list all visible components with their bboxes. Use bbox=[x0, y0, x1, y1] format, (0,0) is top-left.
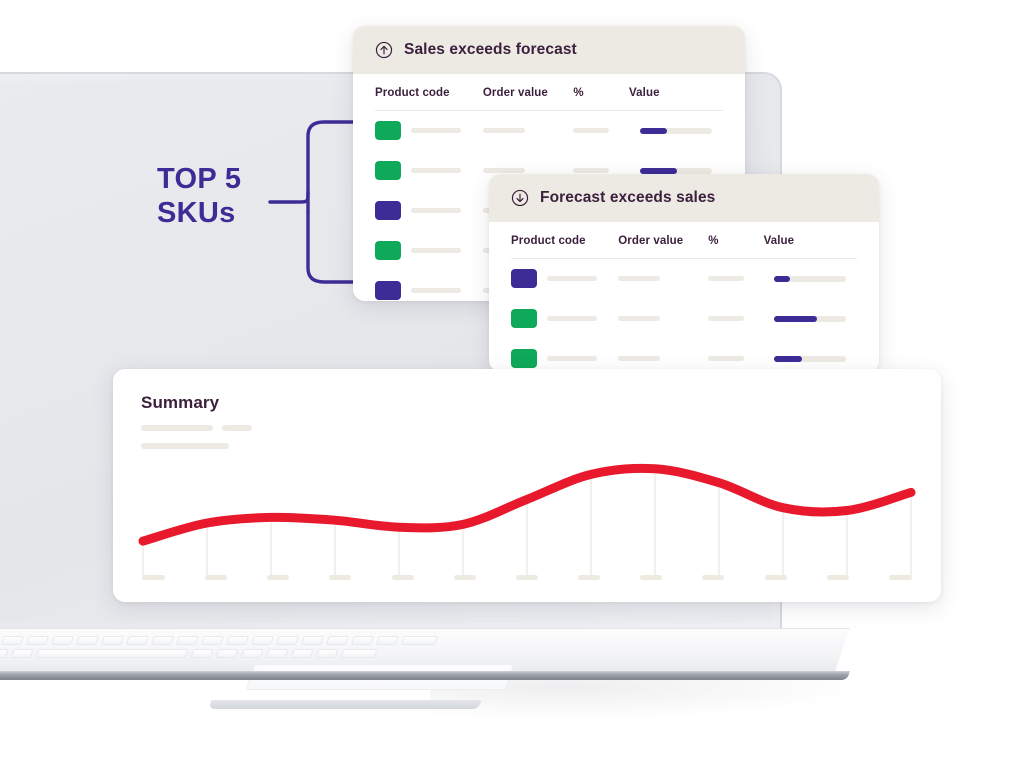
keyboard-key bbox=[151, 636, 174, 645]
percent-placeholder bbox=[573, 128, 609, 133]
product-color-swatch bbox=[511, 349, 537, 368]
x-tick-label-placeholder bbox=[516, 575, 538, 580]
keyboard-key bbox=[26, 636, 49, 645]
product-color-swatch bbox=[375, 161, 401, 180]
cell-value bbox=[764, 299, 857, 339]
keyboard-key bbox=[76, 636, 99, 645]
x-tick-label-placeholder bbox=[765, 575, 787, 580]
x-tick-label-placeholder bbox=[578, 575, 600, 580]
illustration-stage: TOP 5 SKUs Sales exceeds forecast Produc… bbox=[0, 0, 1024, 770]
keyboard-key bbox=[401, 636, 438, 645]
order-value-placeholder bbox=[618, 356, 660, 361]
keyboard-row bbox=[0, 636, 750, 645]
keyboard-key bbox=[290, 649, 313, 658]
keyboard-row bbox=[0, 649, 746, 658]
placeholder-bar bbox=[141, 425, 213, 431]
product-code-placeholder bbox=[411, 128, 461, 133]
x-tick-label-placeholder bbox=[827, 575, 849, 580]
keyboard-key bbox=[190, 649, 213, 658]
table-body bbox=[511, 259, 857, 373]
percent-placeholder bbox=[708, 316, 744, 321]
x-tick-label-placeholder bbox=[640, 575, 662, 580]
order-value-placeholder bbox=[618, 316, 660, 321]
value-bar-track bbox=[774, 356, 846, 362]
cell-product-code bbox=[511, 339, 618, 373]
column-header-percent[interactable]: % bbox=[708, 222, 763, 259]
card-title: Sales exceeds forecast bbox=[404, 41, 577, 59]
cell-value bbox=[764, 259, 857, 299]
table-head: Product code Order value % Value bbox=[375, 74, 723, 111]
cell-percent bbox=[708, 299, 763, 339]
keyboard-key bbox=[265, 649, 288, 658]
table-row[interactable] bbox=[511, 339, 857, 373]
table-header-row: Product code Order value % Value bbox=[511, 222, 857, 259]
value-bar-track bbox=[640, 128, 712, 134]
laptop-front-lip bbox=[208, 700, 481, 709]
cell-product-code bbox=[375, 151, 483, 191]
arrow-up-circle-icon bbox=[375, 41, 393, 59]
chart-gridlines bbox=[143, 473, 911, 580]
summary-chart bbox=[113, 433, 941, 602]
table-header-row: Product code Order value % Value bbox=[375, 74, 723, 111]
product-code-placeholder bbox=[547, 356, 597, 361]
product-code-placeholder bbox=[547, 276, 597, 281]
product-color-swatch bbox=[375, 201, 401, 220]
column-header-percent[interactable]: % bbox=[573, 74, 629, 111]
cell-order-value bbox=[618, 259, 708, 299]
product-color-swatch bbox=[511, 269, 537, 288]
product-color-swatch bbox=[375, 241, 401, 260]
cell-product-code bbox=[375, 191, 483, 231]
summary-title: Summary bbox=[141, 393, 913, 413]
product-color-swatch bbox=[375, 121, 401, 140]
value-bar-fill bbox=[640, 168, 677, 174]
cell-product-code bbox=[511, 259, 618, 299]
keyboard-key bbox=[176, 636, 199, 645]
keyboard-key bbox=[10, 649, 33, 658]
card-header: Sales exceeds forecast bbox=[353, 26, 745, 74]
keyboard-spacebar bbox=[35, 649, 188, 658]
chart-x-axis-ticks bbox=[113, 575, 941, 580]
keyboard-key bbox=[101, 636, 124, 645]
keyboard-key bbox=[240, 649, 263, 658]
top5-skus-label: TOP 5 SKUs bbox=[157, 163, 241, 231]
x-tick-label-placeholder bbox=[267, 575, 289, 580]
product-color-swatch bbox=[375, 281, 401, 300]
cell-product-code bbox=[375, 231, 483, 271]
product-color-swatch bbox=[511, 309, 537, 328]
keyboard-key bbox=[226, 636, 249, 645]
product-code-placeholder bbox=[411, 288, 461, 293]
value-bar-fill bbox=[640, 128, 667, 134]
keyboard-key bbox=[301, 636, 324, 645]
x-tick-label-placeholder bbox=[392, 575, 414, 580]
cell-value bbox=[629, 111, 723, 151]
table-row[interactable] bbox=[375, 111, 723, 151]
table-head: Product code Order value % Value bbox=[511, 222, 857, 259]
cell-percent bbox=[708, 259, 763, 299]
product-code-placeholder bbox=[411, 168, 461, 173]
table-row[interactable] bbox=[511, 259, 857, 299]
value-bar-track bbox=[774, 316, 846, 322]
cell-percent bbox=[573, 111, 629, 151]
cell-order-value bbox=[618, 299, 708, 339]
keyboard-key bbox=[201, 636, 224, 645]
percent-placeholder bbox=[708, 276, 744, 281]
x-tick-label-placeholder bbox=[702, 575, 724, 580]
x-tick-label-placeholder bbox=[454, 575, 476, 580]
card-title: Forecast exceeds sales bbox=[540, 189, 715, 207]
keyboard-key bbox=[326, 636, 349, 645]
column-header-order-value[interactable]: Order value bbox=[618, 222, 708, 259]
value-bar-fill bbox=[774, 316, 817, 322]
cell-product-code bbox=[375, 271, 483, 302]
keyboard-key bbox=[215, 649, 238, 658]
cell-order-value bbox=[483, 111, 573, 151]
summary-subtitle-placeholders bbox=[141, 425, 913, 431]
card-summary[interactable]: Summary bbox=[113, 369, 941, 602]
products-table: Product code Order value % Value bbox=[511, 222, 857, 372]
keyboard-key bbox=[251, 636, 274, 645]
value-bar-fill bbox=[774, 356, 801, 362]
value-bar-track bbox=[774, 276, 846, 282]
x-tick-label-placeholder bbox=[889, 575, 911, 580]
keyboard-key bbox=[340, 649, 377, 658]
keyboard-key bbox=[351, 636, 374, 645]
x-tick-label-placeholder bbox=[329, 575, 351, 580]
keyboard-key bbox=[276, 636, 299, 645]
x-tick-label-placeholder bbox=[143, 575, 165, 580]
keyboard-key bbox=[1, 636, 24, 645]
cell-percent bbox=[708, 339, 763, 373]
column-header-product-code[interactable]: Product code bbox=[511, 222, 618, 259]
x-tick-label-placeholder bbox=[205, 575, 227, 580]
column-header-order-value[interactable]: Order value bbox=[483, 74, 573, 111]
cell-product-code bbox=[511, 299, 618, 339]
laptop-keyboard bbox=[0, 636, 750, 662]
laptop-base-edge bbox=[0, 671, 850, 680]
keyboard-key bbox=[51, 636, 74, 645]
card-header: Forecast exceeds sales bbox=[489, 174, 879, 222]
keyboard-key bbox=[126, 636, 149, 645]
card-body: Product code Order value % Value bbox=[489, 222, 879, 372]
column-header-value[interactable]: Value bbox=[764, 222, 857, 259]
cell-value bbox=[764, 339, 857, 373]
column-header-product-code[interactable]: Product code bbox=[375, 74, 483, 111]
product-code-placeholder bbox=[411, 248, 461, 253]
product-code-placeholder bbox=[547, 316, 597, 321]
table-row[interactable] bbox=[511, 299, 857, 339]
keyboard-key bbox=[315, 649, 338, 658]
cell-order-value bbox=[618, 339, 708, 373]
percent-placeholder bbox=[573, 168, 609, 173]
order-value-placeholder bbox=[483, 168, 525, 173]
keyboard-key bbox=[0, 649, 9, 658]
order-value-placeholder bbox=[483, 128, 525, 133]
order-value-placeholder bbox=[618, 276, 660, 281]
cell-product-code bbox=[375, 111, 483, 151]
arrow-down-circle-icon bbox=[511, 189, 529, 207]
percent-placeholder bbox=[708, 356, 744, 361]
card-forecast-exceeds-sales[interactable]: Forecast exceeds sales Product code Orde… bbox=[489, 174, 879, 372]
placeholder-bar bbox=[222, 425, 252, 431]
product-code-placeholder bbox=[411, 208, 461, 213]
keyboard-key bbox=[376, 636, 399, 645]
value-bar-track bbox=[640, 168, 712, 174]
value-bar-fill bbox=[774, 276, 790, 282]
column-header-value[interactable]: Value bbox=[629, 74, 723, 111]
